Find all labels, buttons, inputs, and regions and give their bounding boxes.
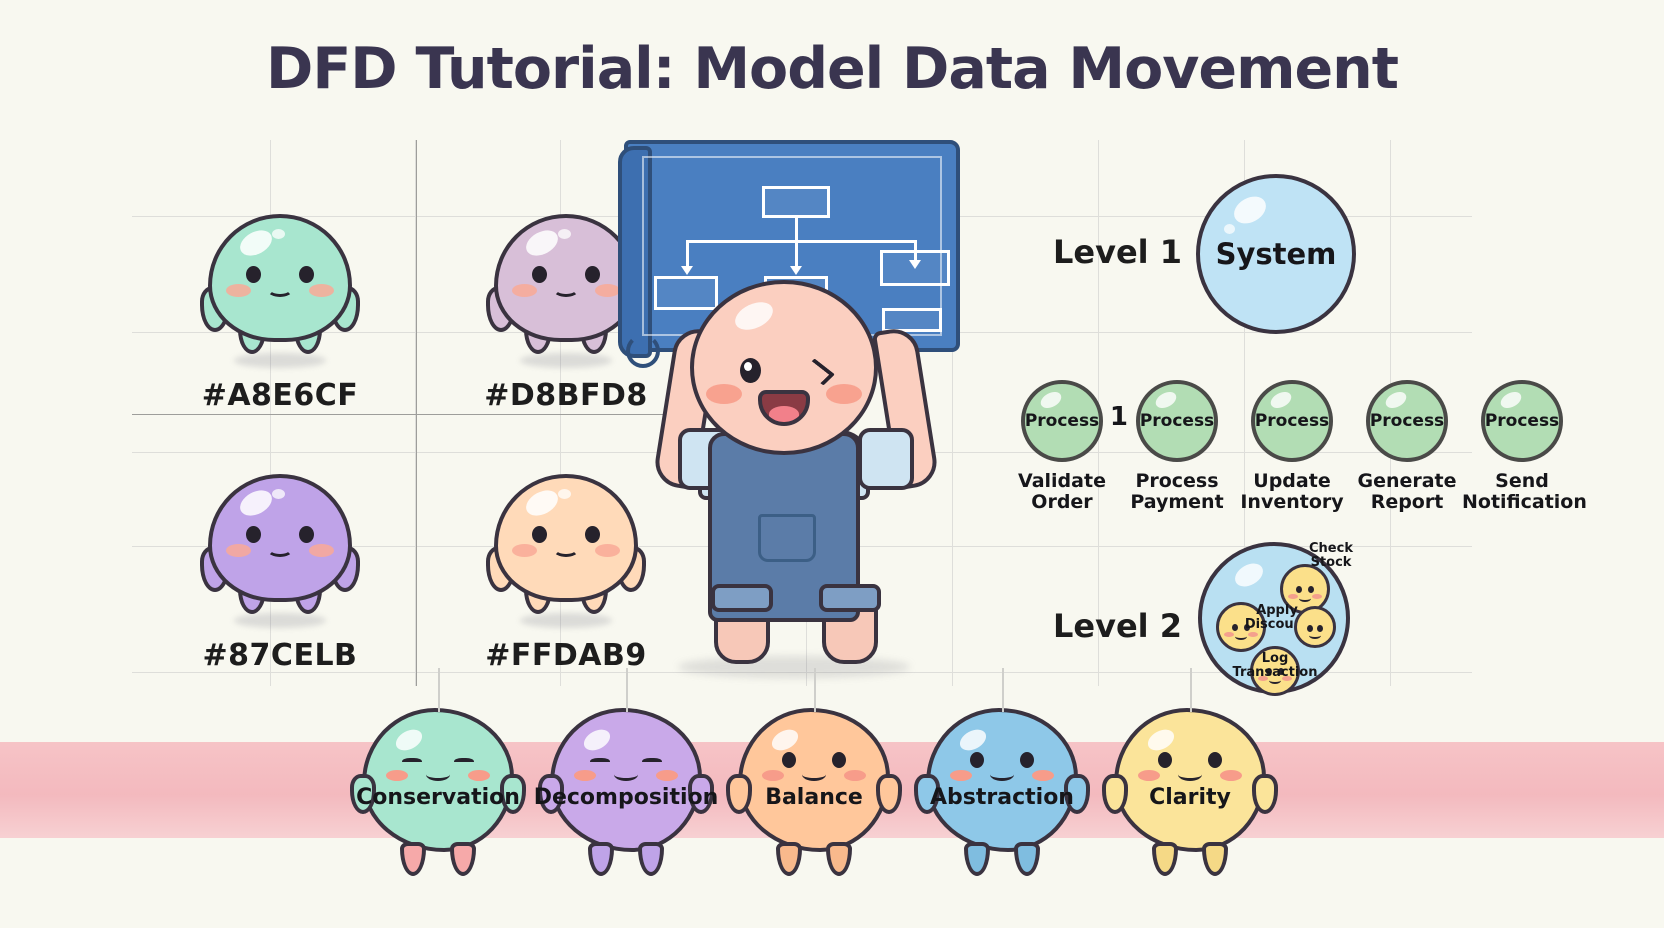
cheek-right — [1248, 632, 1258, 637]
badge-arm-right — [1252, 774, 1278, 814]
cheek-left — [574, 770, 596, 781]
page-title: DFD Tutorial: Model Data Movement — [0, 36, 1664, 102]
mascot-open-smile-icon — [758, 390, 810, 426]
badge-hanger-line — [626, 668, 628, 712]
eye-left-icon — [782, 752, 796, 768]
process-bubble[interactable]: Process — [1136, 380, 1218, 462]
log-transaction-label: Log Transaction — [1230, 652, 1320, 679]
badge-label: Decomposition — [534, 785, 719, 810]
badge-hanger-line — [1190, 668, 1192, 712]
abstraction-badge[interactable]: Abstraction — [902, 708, 1102, 852]
eye-right-icon — [1208, 752, 1222, 768]
process-caption-line1: Validate — [1002, 471, 1122, 492]
swatch-hex-label-1: #A8E6CF — [192, 378, 368, 413]
badge-ribbon-right — [638, 842, 664, 876]
conservation-badge[interactable]: Conservation — [338, 708, 538, 852]
badge-label: Abstraction — [930, 785, 1074, 810]
balance-badge[interactable]: Balance — [714, 708, 914, 852]
eye-left-icon — [1296, 586, 1302, 593]
eye-right-icon — [1308, 586, 1314, 593]
blueprint-arrow-mid — [790, 266, 802, 275]
mascot-shadow — [678, 656, 910, 678]
mascot-sleeve-right — [858, 428, 914, 490]
smile-icon — [614, 768, 638, 781]
eye-left-icon — [1307, 625, 1313, 632]
clarity-badge[interactable]: Clarity — [1090, 708, 1290, 852]
palette-swatch-3[interactable]: #87CELB — [192, 474, 368, 673]
smile-icon — [553, 542, 579, 557]
blueprint-node-right — [880, 250, 950, 286]
smile-icon — [426, 768, 450, 781]
badge-ribbon-left — [776, 842, 802, 876]
badge-arm-left — [726, 774, 752, 814]
cheek-left — [1224, 632, 1234, 637]
eye-left-icon — [402, 758, 422, 767]
process-bubble-label: Process — [1140, 411, 1214, 431]
level-1-label: Level 1 — [1053, 233, 1182, 271]
process-bubble[interactable]: Process — [1251, 380, 1333, 462]
cheek-left — [1288, 594, 1298, 599]
blueprint-connector-vertical — [795, 218, 798, 242]
badge-ribbon-right — [1014, 842, 1040, 876]
mascot-holding-blueprint — [616, 132, 976, 692]
cheek-left — [950, 770, 972, 781]
eye-right-icon — [299, 526, 314, 543]
badge-ribbon-left — [1152, 842, 1178, 876]
system-bubble-label: System — [1216, 237, 1337, 271]
eye-left-icon — [246, 526, 261, 543]
cheek-right — [309, 544, 334, 557]
overalls-cuff-right — [819, 584, 881, 612]
process-item-3[interactable]: Process Update Inventory — [1232, 380, 1352, 513]
process-caption-line1: Generate — [1347, 471, 1467, 492]
process-item-2[interactable]: Process Process Payment — [1117, 380, 1237, 513]
level-2-container-bubble[interactable]: Check Stock Apply Discount — [1198, 542, 1350, 694]
mascot-cheek-right — [826, 384, 862, 404]
mascot-wink-icon — [803, 358, 835, 385]
level-2-label: Level 2 — [1053, 607, 1182, 645]
smile-icon — [1235, 633, 1247, 640]
eye-right-icon — [1317, 625, 1323, 632]
process-caption: Generate Report — [1347, 471, 1467, 513]
badge-ribbon-right — [1202, 842, 1228, 876]
sub-label-line2: Transaction — [1230, 666, 1320, 680]
overalls-cuff-left — [711, 584, 773, 612]
process-caption-line2: Report — [1347, 492, 1467, 513]
character-shadow — [234, 613, 326, 628]
character-face — [200, 266, 360, 312]
badge-ribbon-left — [400, 842, 426, 876]
cheek-left — [512, 544, 537, 557]
process-bubble-label: Process — [1485, 411, 1559, 431]
sub-label-line1: Check — [1286, 542, 1376, 556]
process-bubble-label: Process — [1025, 411, 1099, 431]
smile-icon — [553, 282, 579, 297]
process-caption-line1: Update — [1232, 471, 1352, 492]
process-caption: Send Notification — [1462, 471, 1582, 513]
badge-character: Abstraction — [926, 708, 1078, 852]
swatch-hex-label-3: #87CELB — [192, 638, 368, 673]
process-caption-line2: Inventory — [1232, 492, 1352, 513]
process-caption: Process Payment — [1117, 471, 1237, 513]
eye-right-icon — [585, 266, 600, 283]
blueprint-node-top — [762, 186, 830, 218]
palette-swatch-1[interactable]: #A8E6CF — [192, 214, 368, 413]
blueprint-connector-horizontal — [686, 240, 916, 243]
cheek-right — [309, 284, 334, 297]
cheek-right — [468, 770, 490, 781]
cheek-left — [226, 284, 251, 297]
smile-icon — [990, 768, 1014, 781]
badge-character: Decomposition — [550, 708, 702, 852]
cheek-left — [762, 770, 784, 781]
cheek-left — [226, 544, 251, 557]
character-shadow — [234, 353, 326, 368]
badge-character: Clarity — [1114, 708, 1266, 852]
cheek-right — [656, 770, 678, 781]
process-bubble[interactable]: Process — [1021, 380, 1103, 462]
eye-right-icon — [1020, 752, 1034, 768]
eye-left-icon — [970, 752, 984, 768]
smile-icon — [802, 768, 826, 781]
extra-subprocess-bubble[interactable] — [1294, 606, 1336, 648]
process-caption: Validate Order — [1002, 471, 1122, 513]
mascot-eye-left-icon — [740, 358, 761, 383]
cheek-right — [1032, 770, 1054, 781]
eye-left-icon — [246, 266, 261, 283]
cheek-right — [1312, 594, 1322, 599]
smile-icon — [1178, 768, 1202, 781]
process-item-5[interactable]: Process Send Notification — [1462, 380, 1582, 513]
eye-right-icon — [299, 266, 314, 283]
eye-right-icon — [642, 758, 662, 767]
process-bubble[interactable]: Process — [1366, 380, 1448, 462]
badge-hanger-line — [814, 668, 816, 712]
badge-ribbon-right — [826, 842, 852, 876]
process-caption-line2: Order — [1002, 492, 1122, 513]
smile-icon — [1299, 595, 1311, 602]
poster-canvas: DFD Tutorial: Model Data Movement #A8E6C… — [0, 0, 1664, 928]
swatch-character-1 — [200, 214, 360, 364]
cheek-left — [512, 284, 537, 297]
cheek-right — [844, 770, 866, 781]
badge-arm-left — [1102, 774, 1128, 814]
badge-label: Clarity — [1149, 785, 1231, 810]
smile-icon — [1309, 632, 1321, 639]
badge-hanger-line — [438, 668, 440, 712]
swatch-character-3 — [200, 474, 360, 624]
eye-right-icon — [454, 758, 474, 767]
sub-label-line1: Log — [1230, 652, 1320, 666]
character-shadow — [520, 613, 612, 628]
process-bubble-label: Process — [1370, 411, 1444, 431]
badge-ribbon-left — [964, 842, 990, 876]
cheek-left — [386, 770, 408, 781]
character-shadow — [520, 353, 612, 368]
badge-arm-right — [876, 774, 902, 814]
process-caption-line2: Notification — [1462, 492, 1582, 513]
badge-character: Balance — [738, 708, 890, 852]
blueprint-node-left — [654, 276, 718, 310]
process-caption: Update Inventory — [1232, 471, 1352, 513]
badge-label: Conservation — [356, 785, 520, 810]
process-item-4[interactable]: Process Generate Report — [1347, 380, 1467, 513]
check-stock-label: Check Stock — [1286, 542, 1376, 569]
mascot-head — [690, 280, 878, 455]
eye-right-icon — [832, 752, 846, 768]
decomposition-badge[interactable]: Decomposition — [526, 708, 726, 852]
badge-ribbon-left — [588, 842, 614, 876]
process-caption-line1: Send — [1462, 471, 1582, 492]
eye-left-icon — [532, 266, 547, 283]
badge-ribbon-right — [450, 842, 476, 876]
blueprint-arrow-left — [681, 266, 693, 275]
badge-label: Balance — [765, 785, 863, 810]
eye-left-icon — [1158, 752, 1172, 768]
eye-right-icon — [585, 526, 600, 543]
badge-hanger-line — [1002, 668, 1004, 712]
sub-label-line2: Stock — [1286, 556, 1376, 570]
mascot-cheek-left — [706, 384, 742, 404]
system-bubble[interactable]: System — [1196, 174, 1356, 334]
eye-left-icon — [532, 526, 547, 543]
process-bubble-label: Process — [1255, 411, 1329, 431]
badge-character: Conservation — [362, 708, 514, 852]
cheek-right — [1220, 770, 1242, 781]
smile-icon — [267, 542, 293, 557]
overalls-pocket — [758, 514, 816, 562]
cheek-left — [1138, 770, 1160, 781]
character-face — [200, 526, 360, 572]
process-item-1[interactable]: Process 1 Validate Order — [1002, 380, 1122, 513]
process-bubble[interactable]: Process — [1481, 380, 1563, 462]
smile-icon — [267, 282, 293, 297]
process-caption-line2: Payment — [1117, 492, 1237, 513]
eye-left-icon — [590, 758, 610, 767]
process-caption-line1: Process — [1117, 471, 1237, 492]
